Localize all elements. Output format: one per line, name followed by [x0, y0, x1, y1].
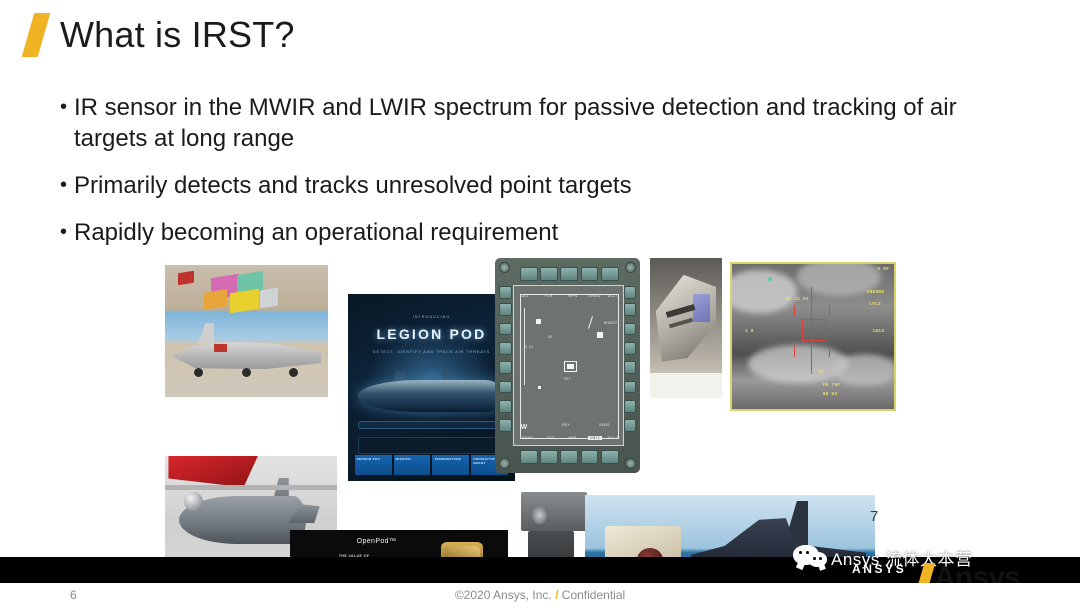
- legion-pod-tile-label: MISSION: [396, 457, 431, 461]
- gimbal-port-icon: [532, 506, 547, 524]
- ir-readout: 08 04: [823, 392, 838, 397]
- image-collage: INTRODUCING LEGION POD DETECT, IDENTIFY …: [160, 250, 900, 540]
- wechat-eye-dot: [806, 551, 809, 554]
- mfd-corner-knob: [625, 262, 636, 273]
- photo-f35-on-ramp: [165, 265, 328, 397]
- footer-copyright: ©2020 Ansys, Inc. / Confidential: [0, 588, 1080, 602]
- watermark-subtext: ANSYS: [852, 562, 906, 576]
- photo-ir-sensor-view: 9.9F 08 22 01 GROUND LVL2 1 0 1813 TM FR…: [730, 262, 896, 411]
- mfd-label-x12: X 12: [525, 345, 533, 349]
- mfd-label-dcls: DCL S: [608, 436, 619, 440]
- ir-reticle-tick: [794, 305, 795, 317]
- mfd-bezel-button[interactable]: [624, 286, 637, 299]
- wechat-eye-dot: [819, 557, 822, 560]
- mfd-bezel-button[interactable]: [499, 381, 512, 394]
- mfd-label-lvnsd: LVNSD: [588, 294, 601, 298]
- page-title: What is IRST?: [60, 13, 295, 57]
- mfd-bezel-button[interactable]: [499, 303, 512, 316]
- wechat-bubble-small: [808, 552, 827, 567]
- list-item: • Primarily detects and tracks unresolve…: [60, 170, 1040, 201]
- legion-pod-tile: SENSOR FOV: [355, 455, 392, 476]
- red-cover-shape: [168, 456, 257, 487]
- photo-cockpit-mfd: A/G FCR WPN LVNSD DCLT SWAP TGT SMS CNTL…: [495, 258, 640, 473]
- mfd-label-tgt: TGT: [547, 436, 555, 440]
- mfd-corner-knob: [499, 458, 510, 469]
- eots-sensor-window: [693, 294, 710, 322]
- mfd-bezel-button[interactable]: [499, 400, 512, 413]
- gimbal-top-housing: [521, 492, 587, 532]
- ir-cloud-shape: [730, 270, 797, 314]
- mfd-bezel-button[interactable]: [560, 267, 578, 282]
- legion-pod-tile: TEMPERATURE: [432, 455, 469, 476]
- mfd-scale-ladder: [524, 308, 525, 384]
- mfd-bezel-button[interactable]: [499, 286, 512, 299]
- ir-target-blip: [768, 277, 772, 281]
- bullet-marker-icon: •: [60, 217, 74, 247]
- bullet-text: IR sensor in the MWIR and LWIR spectrum …: [74, 92, 1009, 154]
- mfd-label-shoot: SHOOT: [604, 321, 618, 325]
- pod-sensor-ball: [184, 492, 203, 511]
- jet-marking-red: [214, 344, 227, 352]
- mfd-label-dclt: DCLT: [608, 294, 618, 298]
- mfd-track-symbol: [536, 319, 541, 324]
- ir-readout: GROUND: [867, 290, 885, 295]
- wing-edge-line: [165, 485, 337, 490]
- ir-reticle-tick: [829, 305, 830, 317]
- mfd-bezel-button[interactable]: [560, 450, 578, 465]
- pod-info-strip: [358, 437, 507, 454]
- bay-flag-red: [178, 270, 194, 284]
- infographic-legion-pod: INTRODUCING LEGION POD DETECT, IDENTIFY …: [348, 294, 515, 481]
- mfd-corner-letter: W: [521, 424, 528, 431]
- mfd-label-fcr: FCR: [545, 294, 553, 298]
- canvas-page-number: 7: [870, 508, 878, 525]
- ir-reticle-box: [802, 319, 827, 341]
- ir-readout: FR 78F: [823, 383, 841, 388]
- list-item: • Rapidly becoming an operational requir…: [60, 217, 1040, 248]
- mfd-label-cntl: CNTL: [588, 436, 602, 440]
- mfd-label-code: 01932: [599, 423, 610, 427]
- list-item: • IR sensor in the MWIR and LWIR spectru…: [60, 92, 1040, 154]
- legion-pod-tile-row: SENSOR FOV MISSION TEMPERATURE PRODUCTIO…: [355, 455, 509, 476]
- jet-fuselage-shape: [172, 340, 322, 369]
- jet-wheel: [289, 368, 298, 377]
- mfd-bezel-button[interactable]: [624, 323, 637, 336]
- mfd-bezel-button[interactable]: [520, 267, 538, 282]
- ir-cloud-shape: [832, 354, 896, 386]
- mfd-bezel-button[interactable]: [624, 361, 637, 374]
- bullet-list: • IR sensor in the MWIR and LWIR spectru…: [60, 92, 1040, 264]
- mfd-bezel-button[interactable]: [601, 450, 619, 465]
- legion-pod-tile: MISSION: [394, 455, 431, 476]
- wechat-icon: [793, 543, 827, 571]
- ir-readout: 9.9F: [877, 267, 889, 272]
- mfd-label-range-20: 20: [548, 335, 552, 339]
- mfd-bezel-button[interactable]: [520, 450, 538, 465]
- mfd-bezel-button[interactable]: [499, 323, 512, 336]
- mfd-corner-knob: [499, 262, 510, 273]
- legion-pod-tile-label: TEMPERATURE: [434, 457, 469, 461]
- ir-readout: LVL2: [869, 302, 881, 307]
- mfd-bezel-button[interactable]: [624, 400, 637, 413]
- mfd-center-label: TGT: [563, 377, 571, 381]
- wechat-eye-dot: [813, 557, 816, 560]
- jet-wheel: [242, 368, 251, 377]
- slide-title-row: What is IRST?: [28, 8, 295, 62]
- mfd-bezel-button[interactable]: [540, 267, 558, 282]
- jet-wheel: [194, 368, 203, 377]
- mfd-screen[interactable]: A/G FCR WPN LVNSD DCLT SWAP TGT SMS CNTL…: [513, 285, 624, 446]
- mfd-track-symbol: [597, 332, 603, 338]
- bullet-marker-icon: •: [60, 92, 74, 122]
- legion-pod-eyebrow: INTRODUCING: [348, 315, 515, 319]
- ir-readout: 08 22 01: [785, 297, 808, 302]
- ir-readout: TM: [818, 370, 824, 375]
- footer-slash-icon: /: [555, 588, 558, 602]
- ir-readout: 1 0: [745, 329, 754, 334]
- mfd-bezel-button[interactable]: [581, 267, 599, 282]
- bullet-text: Rapidly becoming an operational requirem…: [74, 217, 558, 248]
- bullet-text: Primarily detects and tracks unresolved …: [74, 170, 632, 201]
- mfd-bezel-button[interactable]: [601, 267, 619, 282]
- slide-footer: 6 ©2020 Ansys, Inc. / Confidential: [0, 583, 1080, 608]
- mfd-bezel-button[interactable]: [499, 361, 512, 374]
- pod-body-shape: [358, 380, 505, 412]
- mfd-bezel-button[interactable]: [624, 342, 637, 355]
- bullet-marker-icon: •: [60, 170, 74, 200]
- mfd-bezel-button[interactable]: [624, 419, 637, 432]
- mfd-label-ag: A/G: [522, 294, 529, 298]
- mfd-bezel-button[interactable]: [499, 342, 512, 355]
- mfd-label-wpn: WPN: [569, 294, 578, 298]
- wechat-eye-dot: [799, 551, 802, 554]
- slide-canvas: What is IRST? • IR sensor in the MWIR an…: [0, 0, 1080, 608]
- ir-reticle-tick: [829, 345, 830, 357]
- footer-copyright-text: ©2020 Ansys, Inc.: [455, 588, 552, 602]
- bay-panel-grey: [260, 287, 278, 308]
- ir-readout: 1813: [873, 329, 885, 334]
- accent-slash-icon: [22, 13, 51, 57]
- mfd-bezel-button[interactable]: [499, 419, 512, 432]
- ir-reticle-tick: [794, 345, 795, 357]
- mfd-label-sms: SMS: [569, 436, 577, 440]
- mfd-bezel-button[interactable]: [624, 303, 637, 316]
- mfd-designated-box: [564, 361, 577, 372]
- legion-pod-tile-label: SENSOR FOV: [357, 457, 392, 461]
- pod-scale-bar: [358, 421, 507, 429]
- mfd-bezel-button[interactable]: [581, 450, 599, 465]
- openpod-title: OpenPod™: [357, 538, 397, 545]
- legion-pod-subtitle: DETECT, IDENTIFY AND TRACK AIR THREATS: [348, 349, 515, 354]
- eots-background-floor: [650, 373, 722, 398]
- photo-eots-fairing: [650, 258, 722, 398]
- mfd-track-symbol: [538, 386, 541, 389]
- mfd-bezel-button[interactable]: [540, 450, 558, 465]
- footer-confidential-text: Confidential: [562, 588, 625, 602]
- jet-tail-shape: [191, 323, 214, 344]
- mfd-label-swap: SWAP: [522, 436, 533, 440]
- legion-pod-title: LEGION POD: [348, 326, 515, 342]
- mfd-corner-knob: [625, 458, 636, 469]
- mfd-label-rdy: RDY: [562, 423, 570, 427]
- mfd-bezel-button[interactable]: [624, 381, 637, 394]
